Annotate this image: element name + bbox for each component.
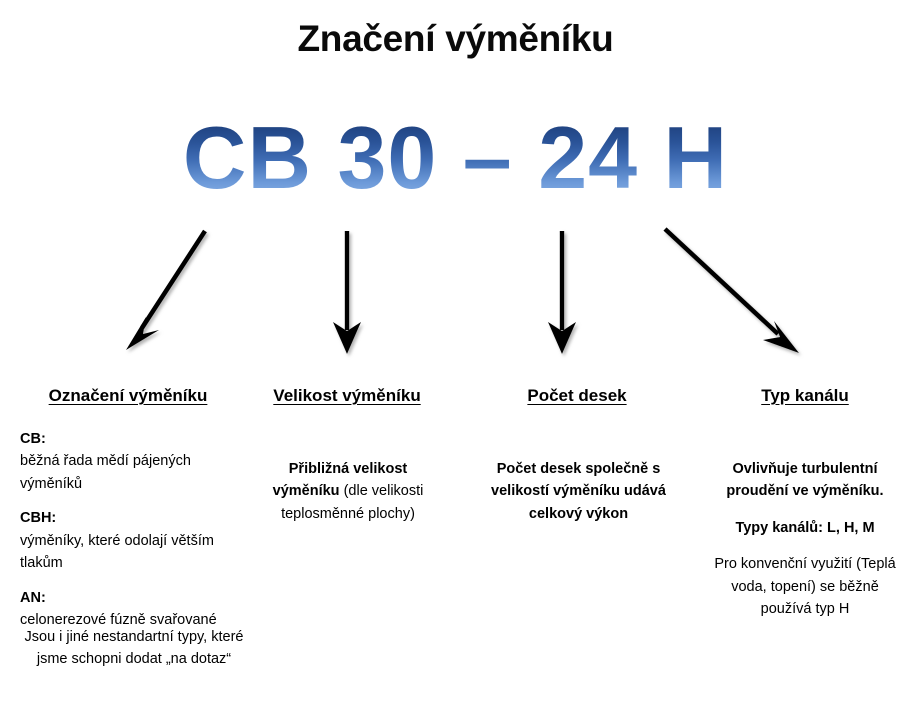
term-an: AN: — [20, 587, 248, 609]
arrow-to-oznaceni-icon — [126, 231, 205, 350]
term-cb: CB: — [20, 428, 248, 450]
column-header-pocet: Počet desek — [527, 386, 626, 406]
term-cbh: CBH: — [20, 507, 248, 529]
diagram-page: { "title": "Značení výměníku", "product_… — [0, 0, 911, 703]
term-cb-label: CB: — [20, 431, 46, 447]
arrow-to-velikost-icon — [333, 231, 361, 354]
typ-effect-text: Ovlivňuje turbulentní proudění ve výmění… — [710, 458, 900, 503]
column-body-typ: Ovlivňuje turbulentní proudění ve výmění… — [710, 458, 900, 621]
column-footnote-oznaceni: Jsou i jiné nestandartní typy, které jsm… — [14, 626, 254, 671]
arrow-to-typ-icon — [665, 229, 799, 353]
arrow-to-pocet-icon — [548, 231, 576, 354]
term-an-label: AN: — [20, 590, 46, 606]
typ-channel-types: Typy kanálů: L, H, M — [710, 517, 900, 539]
column-header-oznaceni: Označení výměníku — [49, 386, 208, 406]
column-body-velikost: Přibližná velikost výměníku (dle velikos… — [254, 458, 442, 525]
column-body-pocet: Počet desek společně s velikostí výměník… — [481, 458, 676, 525]
product-code-container: CB 30 – 24 H — [0, 114, 911, 214]
product-code-text: CB 30 – 24 H — [183, 114, 728, 202]
column-body-oznaceni: CB: běžná řada mědí pájených výměníků CB… — [20, 428, 248, 632]
page-title: Značení výměníku — [0, 18, 911, 60]
term-cb-description: běžná řada mědí pájených výměníků — [20, 450, 248, 495]
column-header-typ: Typ kanálu — [761, 386, 849, 406]
typ-usage-note: Pro konvenční využití (Teplá voda, topen… — [710, 553, 900, 620]
term-cbh-label: CBH: — [20, 510, 56, 526]
column-header-velikost: Velikost výměníku — [273, 386, 420, 406]
term-cbh-description: výměníky, které odolají větším tlakům — [20, 530, 248, 575]
